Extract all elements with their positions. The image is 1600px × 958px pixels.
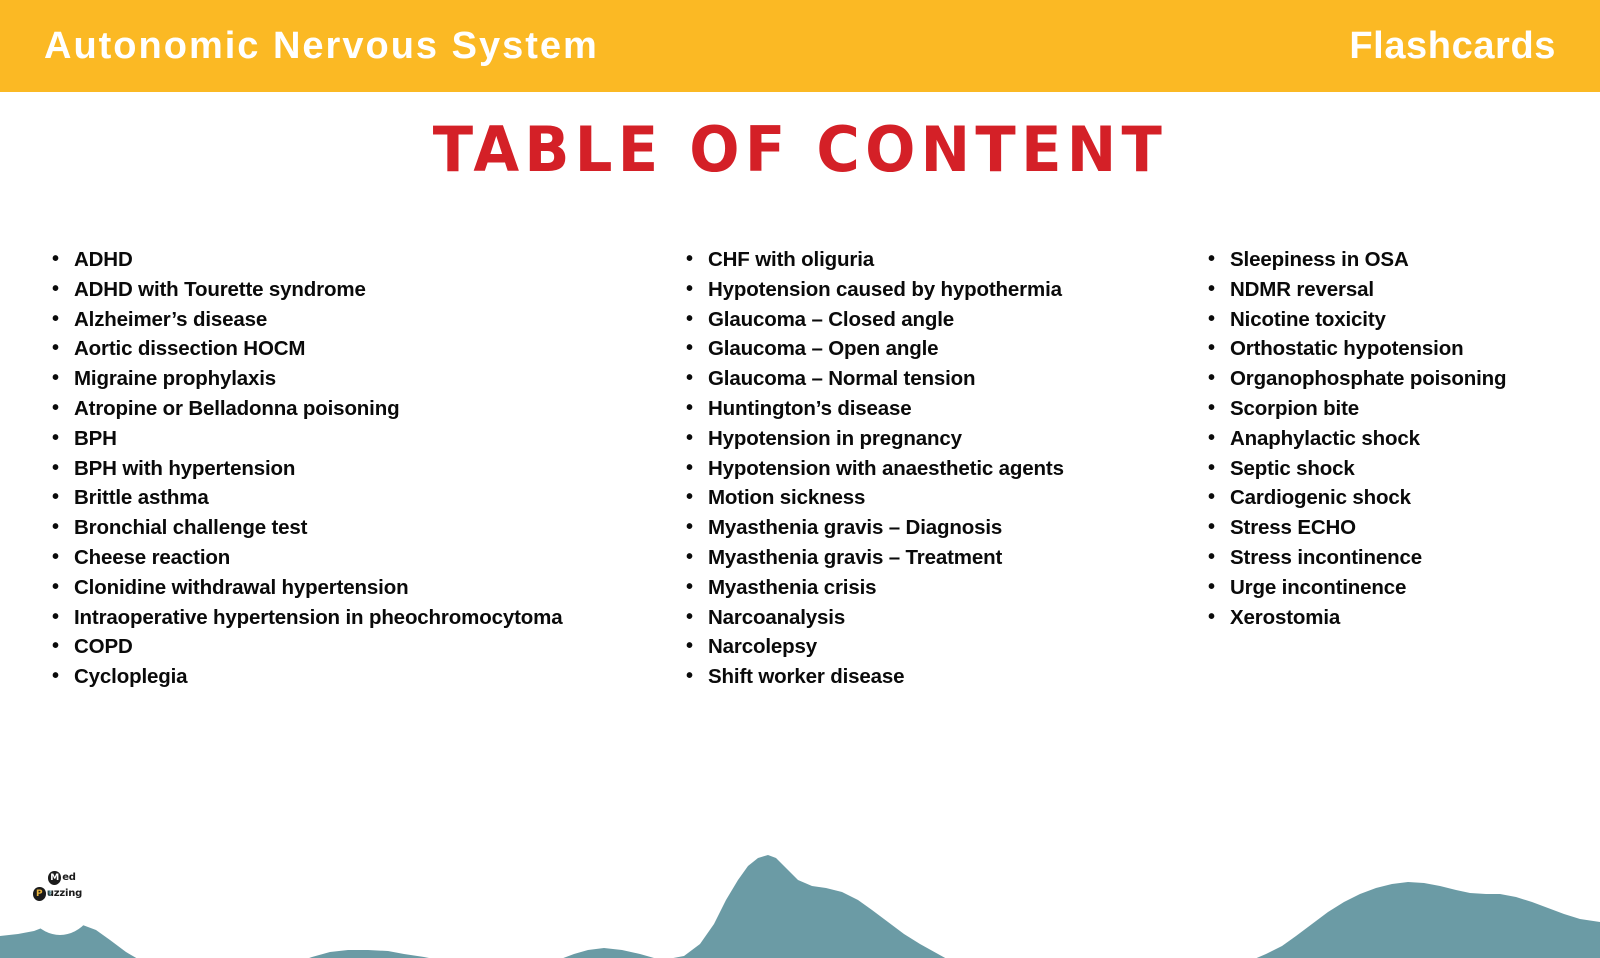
toc-list-item[interactable]: ADHD xyxy=(44,245,660,275)
toc-list-item[interactable]: Glaucoma – Open angle xyxy=(678,334,1190,364)
toc-list-item[interactable]: Narcoanalysis xyxy=(678,603,1190,633)
toc-list-item[interactable]: Organophosphate poisoning xyxy=(1200,364,1600,394)
toc-list-item[interactable]: Myasthenia crisis xyxy=(678,573,1190,603)
logo-initial-m: M xyxy=(48,871,61,885)
toc-list-item[interactable]: Cheese reaction xyxy=(44,543,660,573)
toc-column-2: CHF with oliguriaHypotension caused by h… xyxy=(660,245,1190,692)
toc-list-item[interactable]: Myasthenia gravis – Diagnosis xyxy=(678,513,1190,543)
logo-line-med: M ed xyxy=(48,871,76,885)
toc-columns: ADHDADHD with Tourette syndromeAlzheimer… xyxy=(0,245,1600,692)
toc-list-item[interactable]: Glaucoma – Normal tension xyxy=(678,364,1190,394)
toc-list-item[interactable]: NDMR reversal xyxy=(1200,275,1600,305)
toc-column-3: Sleepiness in OSANDMR reversalNicotine t… xyxy=(1190,245,1600,632)
toc-list-item[interactable]: Stress ECHO xyxy=(1200,513,1600,543)
toc-list-item[interactable]: Sleepiness in OSA xyxy=(1200,245,1600,275)
toc-list-item[interactable]: BPH with hypertension xyxy=(44,454,660,484)
toc-list-item[interactable]: Atropine or Belladonna poisoning xyxy=(44,394,660,424)
toc-list-item[interactable]: Narcolepsy xyxy=(678,632,1190,662)
toc-list-item[interactable]: Septic shock xyxy=(1200,454,1600,484)
toc-list-item[interactable]: Intraoperative hypertension in pheochrom… xyxy=(44,603,660,633)
toc-list-item[interactable]: BPH xyxy=(44,424,660,454)
toc-list-item[interactable]: CHF with oliguria xyxy=(678,245,1190,275)
toc-list-item[interactable]: Scorpion bite xyxy=(1200,394,1600,424)
toc-list-item[interactable]: Orthostatic hypotension xyxy=(1200,334,1600,364)
toc-list-item[interactable]: Glaucoma – Closed angle xyxy=(678,305,1190,335)
toc-list-item[interactable]: Migraine prophylaxis xyxy=(44,364,660,394)
header-bar: Autonomic Nervous System Flashcards xyxy=(0,0,1600,92)
toc-list-item[interactable]: COPD xyxy=(44,632,660,662)
toc-list-item[interactable]: Shift worker disease xyxy=(678,662,1190,692)
brand-logo-badge[interactable]: M ed P uzzing ☤ xyxy=(21,837,99,935)
toc-list-item[interactable]: Huntington’s disease xyxy=(678,394,1190,424)
toc-list-item[interactable]: Anaphylactic shock xyxy=(1200,424,1600,454)
toc-list-item[interactable]: Xerostomia xyxy=(1200,603,1600,633)
toc-list-1: ADHDADHD with Tourette syndromeAlzheimer… xyxy=(44,245,660,692)
caduceus-icon: ☤ xyxy=(47,890,52,898)
logo-initial-p: P xyxy=(33,887,46,901)
toc-list-item[interactable]: Motion sickness xyxy=(678,483,1190,513)
header-category-label: Flashcards xyxy=(1349,27,1556,65)
header-title: Autonomic Nervous System xyxy=(44,27,599,65)
toc-list-item[interactable]: Hypotension in pregnancy xyxy=(678,424,1190,454)
bottom-wave-decoration xyxy=(0,728,1600,958)
toc-list-item[interactable]: Hypotension caused by hypothermia xyxy=(678,275,1190,305)
logo-line-puzzing: P uzzing xyxy=(33,887,82,901)
page-title: TABLE OF CONTENT xyxy=(0,113,1600,186)
toc-list-item[interactable]: ADHD with Tourette syndrome xyxy=(44,275,660,305)
slide-root: Autonomic Nervous System Flashcards TABL… xyxy=(0,0,1600,958)
toc-list-item[interactable]: Urge incontinence xyxy=(1200,573,1600,603)
toc-list-item[interactable]: Aortic dissection HOCM xyxy=(44,334,660,364)
toc-list-item[interactable]: Alzheimer’s disease xyxy=(44,305,660,335)
toc-column-1: ADHDADHD with Tourette syndromeAlzheimer… xyxy=(0,245,660,692)
toc-list-2: CHF with oliguriaHypotension caused by h… xyxy=(678,245,1190,692)
toc-list-item[interactable]: Stress incontinence xyxy=(1200,543,1600,573)
toc-list-3: Sleepiness in OSANDMR reversalNicotine t… xyxy=(1200,245,1600,632)
toc-list-item[interactable]: Cycloplegia xyxy=(44,662,660,692)
toc-list-item[interactable]: Nicotine toxicity xyxy=(1200,305,1600,335)
toc-list-item[interactable]: Hypotension with anaesthetic agents xyxy=(678,454,1190,484)
toc-list-item[interactable]: Brittle asthma xyxy=(44,483,660,513)
toc-list-item[interactable]: Clonidine withdrawal hypertension xyxy=(44,573,660,603)
toc-list-item[interactable]: Bronchial challenge test xyxy=(44,513,660,543)
toc-list-item[interactable]: Myasthenia gravis – Treatment xyxy=(678,543,1190,573)
toc-list-item[interactable]: Cardiogenic shock xyxy=(1200,483,1600,513)
logo-word-ed: ed xyxy=(62,873,76,883)
